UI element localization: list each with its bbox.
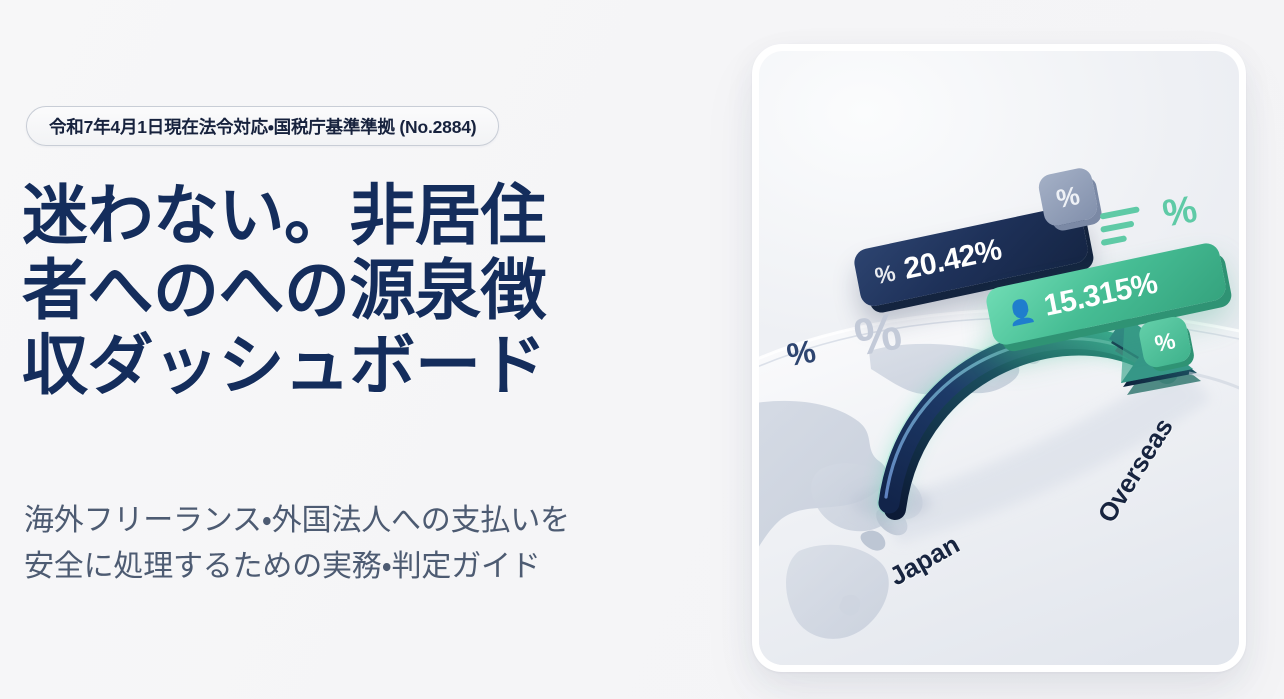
illustration-card: % 20.42% 👤 15.315% % % % % % Japan Overs… — [752, 44, 1246, 672]
compliance-badge-label: 令和7年4月1日現在法令対応・国税庁基準準拠 (No.2884) — [49, 114, 476, 139]
page-subtitle-line-2: 安全に処理するための実務・判定ガイド — [24, 544, 704, 590]
hero-text-column: 令和7年4月1日現在法令対応・国税庁基準準拠 (No.2884) 迷わない。非居… — [0, 0, 700, 699]
page-title-line-1: 迷わない。非居住 — [22, 178, 702, 253]
page-subtitle-line-1: 海外フリーランス・外国法人への支払いを — [24, 498, 704, 544]
page-title-line-2: 者へのへの源泉徴 — [22, 253, 702, 328]
hero-section: 令和7年4月1日現在法令対応・国税庁基準準拠 (No.2884) 迷わない。非居… — [0, 0, 1284, 699]
illustration-canvas: % 20.42% 👤 15.315% % % % % % Japan Overs… — [759, 51, 1239, 665]
globe-illustration-svg — [759, 51, 1239, 665]
page-title: 迷わない。非居住 者へのへの源泉徴 収ダッシュボード — [22, 178, 702, 403]
compliance-badge: 令和7年4月1日現在法令対応・国税庁基準準拠 (No.2884) — [26, 106, 499, 146]
page-subtitle: 海外フリーランス・外国法人への支払いを 安全に処理するための実務・判定ガイド — [24, 498, 704, 589]
page-title-line-3: 収ダッシュボード — [22, 328, 702, 403]
